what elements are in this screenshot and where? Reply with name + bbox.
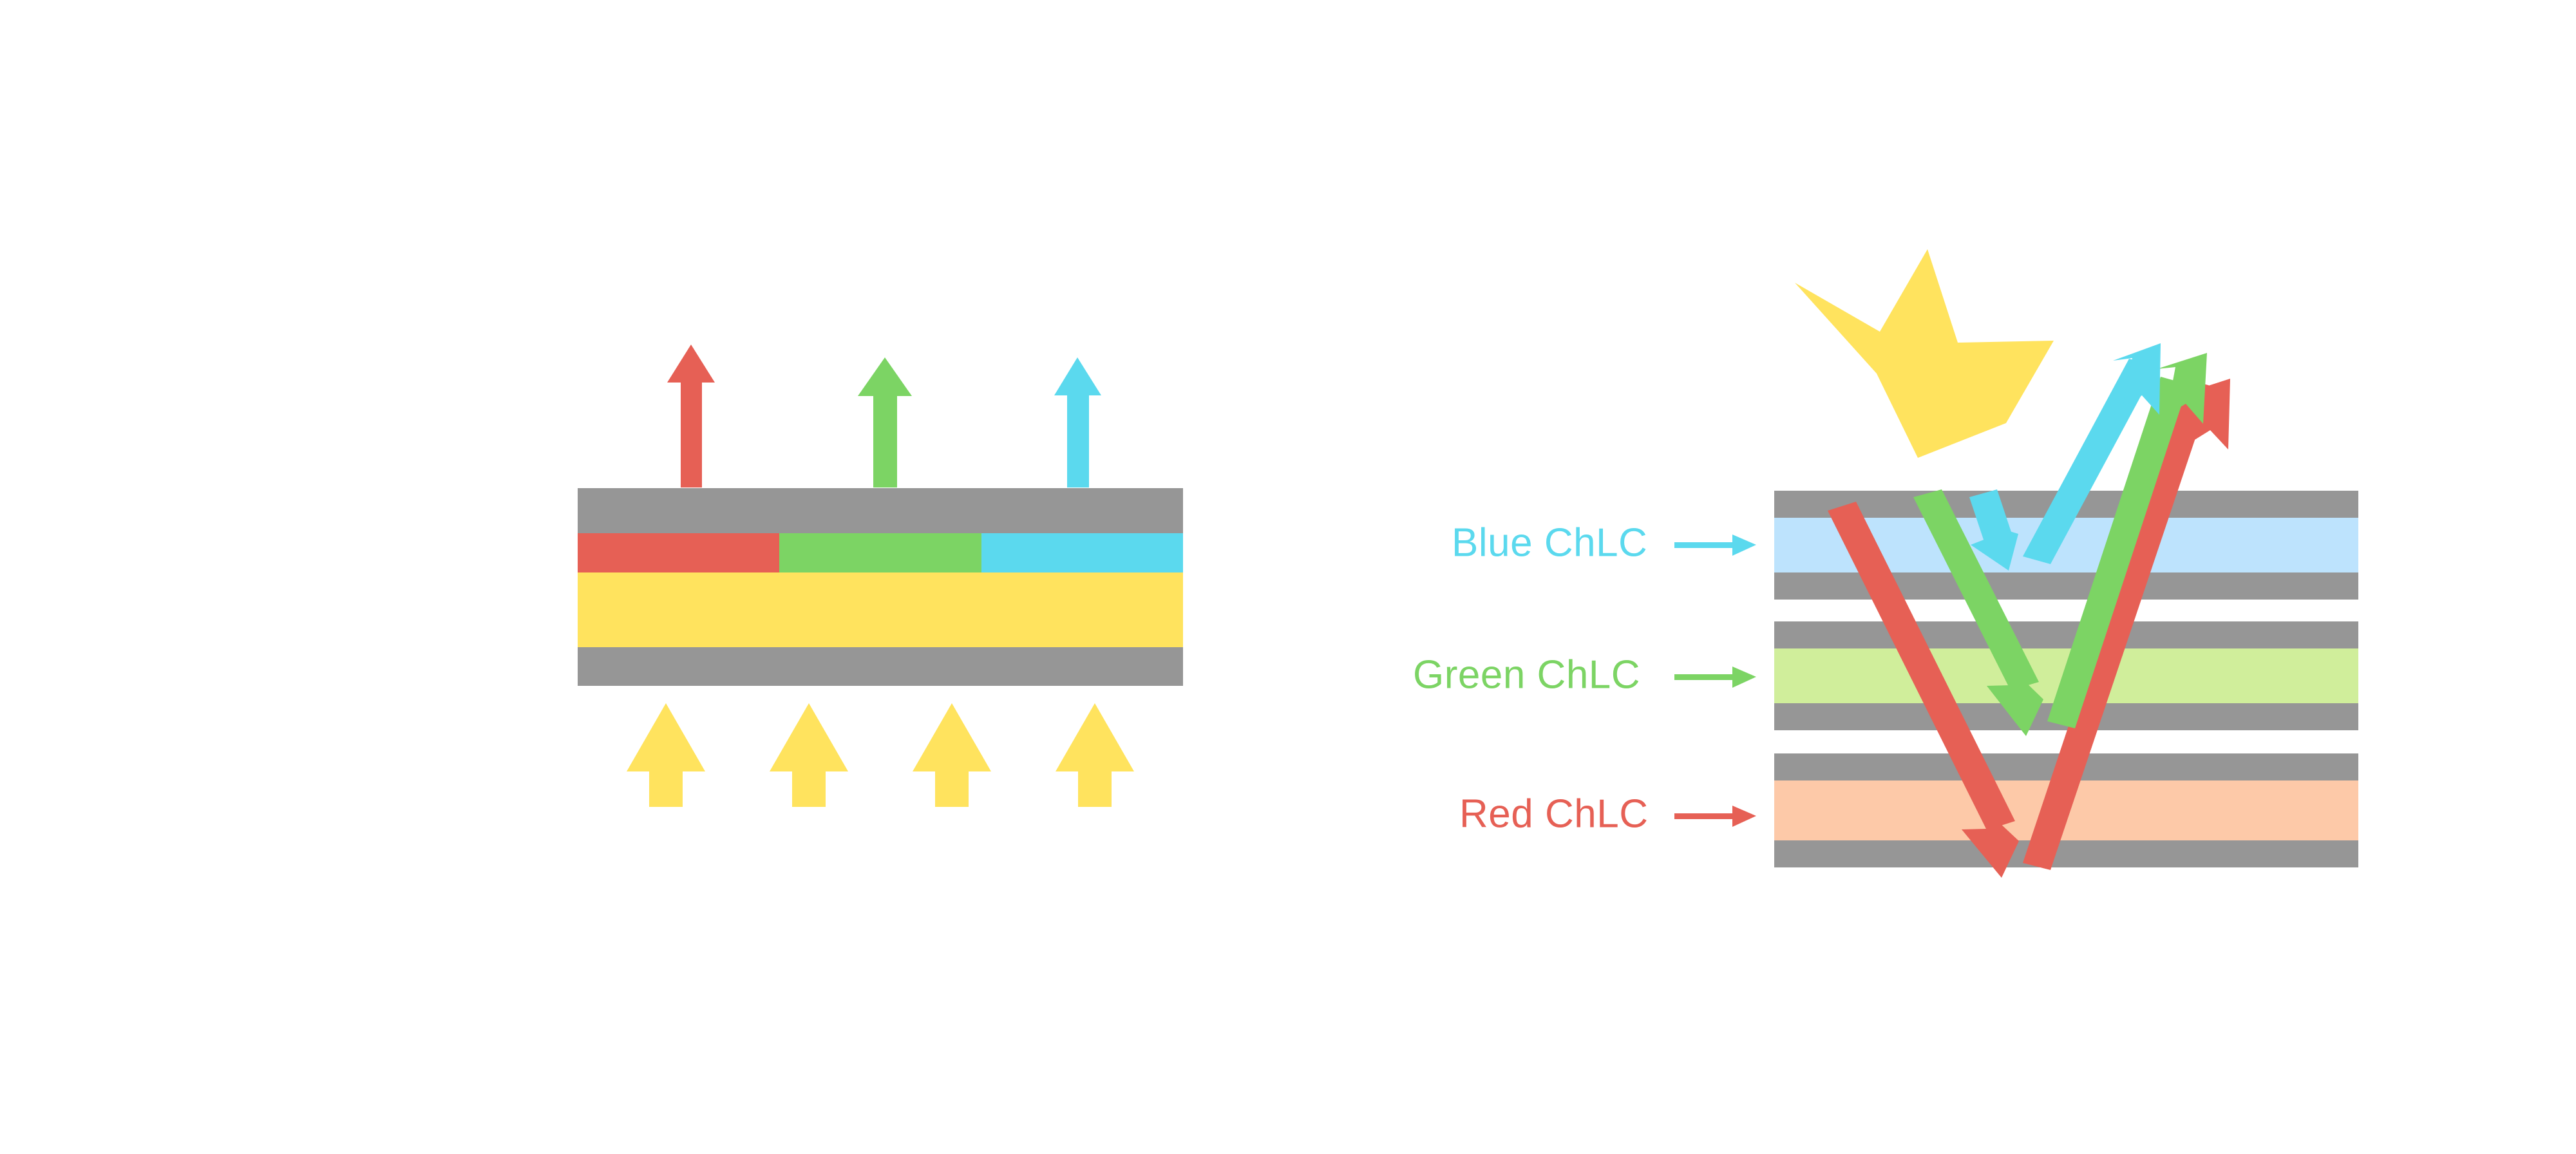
top-electrode-layer (578, 488, 1183, 533)
red-subpixel (578, 533, 779, 572)
green-cell-top-electrode (1774, 621, 2358, 648)
red-chlc-label: Red ChLC (1459, 791, 1756, 836)
green-chlc-label-arrow-icon (1674, 667, 1756, 688)
green-emission-arrow (858, 357, 912, 487)
red-emission-arrow (667, 345, 715, 487)
diagram-canvas: Blue ChLC Green ChLC Red ChLC (0, 0, 2576, 1154)
backlight-arrow-3 (913, 703, 991, 807)
blue-subpixel (981, 533, 1183, 572)
backlight-arrow-4 (1056, 703, 1134, 807)
right-panel: Blue ChLC Green ChLC Red ChLC (1413, 249, 2358, 878)
blue-chlc-label-text: Blue ChLC (1452, 520, 1647, 565)
backlight-arrow-2 (770, 703, 848, 807)
left-backlight-arrows-group (627, 703, 1134, 807)
green-chlc-label-text: Green ChLC (1413, 652, 1640, 697)
red-chlc-label-arrow-icon (1674, 806, 1756, 827)
left-panel (578, 345, 1183, 807)
green-chlc-label: Green ChLC (1413, 652, 1756, 697)
blue-chlc-label: Blue ChLC (1452, 520, 1756, 565)
green-subpixel (779, 533, 981, 572)
left-stack (578, 488, 1183, 686)
red-chlc-label-text: Red ChLC (1459, 791, 1648, 836)
backlight-layer (578, 572, 1183, 647)
backlight-arrow-1 (627, 703, 705, 807)
incident-white-light-arrow (1795, 249, 2054, 458)
left-emitted-arrows-group (667, 345, 1101, 487)
blue-chlc-label-arrow-icon (1674, 534, 1756, 556)
bottom-electrode-layer (578, 647, 1183, 686)
blue-emission-arrow (1054, 357, 1101, 487)
figure-root: Blue ChLC Green ChLC Red ChLC (0, 0, 2576, 1154)
red-cell-bottom-electrode (1774, 840, 2358, 867)
